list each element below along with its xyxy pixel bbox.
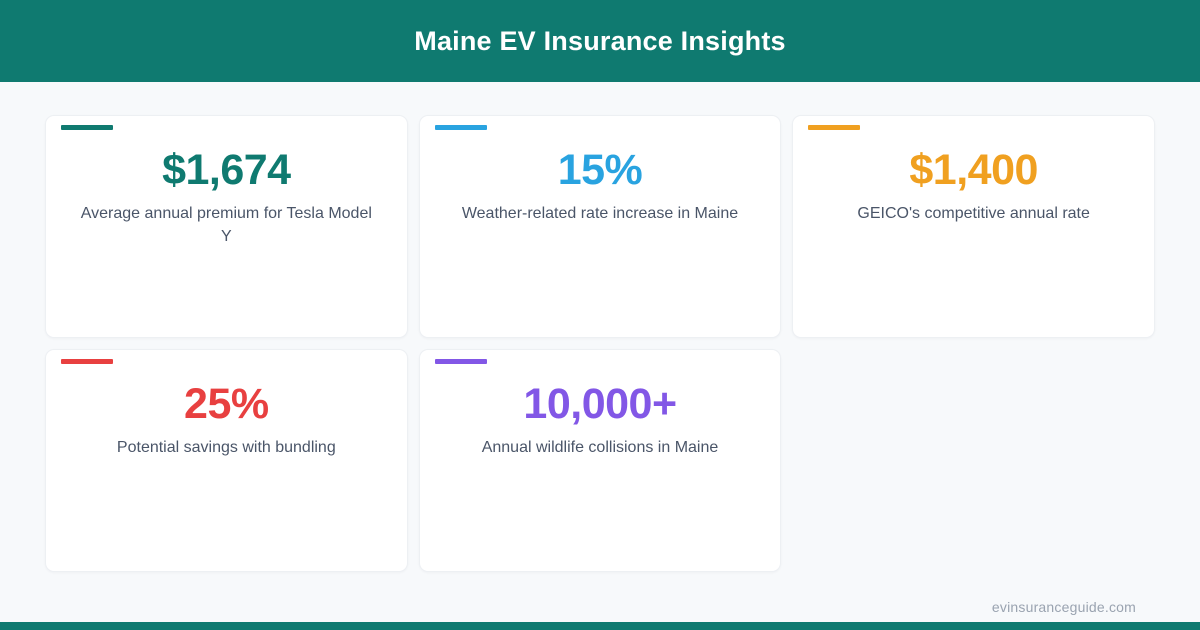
stat-card: 10,000+ Annual wildlife collisions in Ma… <box>419 349 782 572</box>
accent-bar <box>435 125 487 130</box>
stat-value: $1,400 <box>909 148 1038 193</box>
stat-value: $1,674 <box>162 148 291 193</box>
accent-bar <box>435 359 487 364</box>
footer-accent-bar <box>0 622 1200 630</box>
page-header: Maine EV Insurance Insights <box>0 0 1200 82</box>
stat-label: Annual wildlife collisions in Maine <box>482 437 719 459</box>
stats-section: $1,674 Average annual premium for Tesla … <box>0 82 1200 572</box>
stat-card: $1,400 GEICO's competitive annual rate <box>792 115 1155 338</box>
stat-label: Weather-related rate increase in Maine <box>462 203 738 225</box>
stat-label: Potential savings with bundling <box>117 437 336 459</box>
accent-bar <box>808 125 860 130</box>
stats-grid: $1,674 Average annual premium for Tesla … <box>45 115 1155 572</box>
stat-label: Average annual premium for Tesla Model Y <box>76 203 376 248</box>
page-footer: evinsuranceguide.com <box>0 592 1200 622</box>
accent-bar <box>61 125 113 130</box>
accent-bar <box>61 359 113 364</box>
stat-value: 25% <box>184 382 269 427</box>
source-attribution: evinsuranceguide.com <box>992 599 1136 615</box>
stat-card: $1,674 Average annual premium for Tesla … <box>45 115 408 338</box>
stat-label: GEICO's competitive annual rate <box>857 203 1090 225</box>
stat-value: 10,000+ <box>523 382 676 427</box>
stat-value: 15% <box>558 148 643 193</box>
page-title: Maine EV Insurance Insights <box>414 28 786 55</box>
stat-card: 15% Weather-related rate increase in Mai… <box>419 115 782 338</box>
stat-card: 25% Potential savings with bundling <box>45 349 408 572</box>
